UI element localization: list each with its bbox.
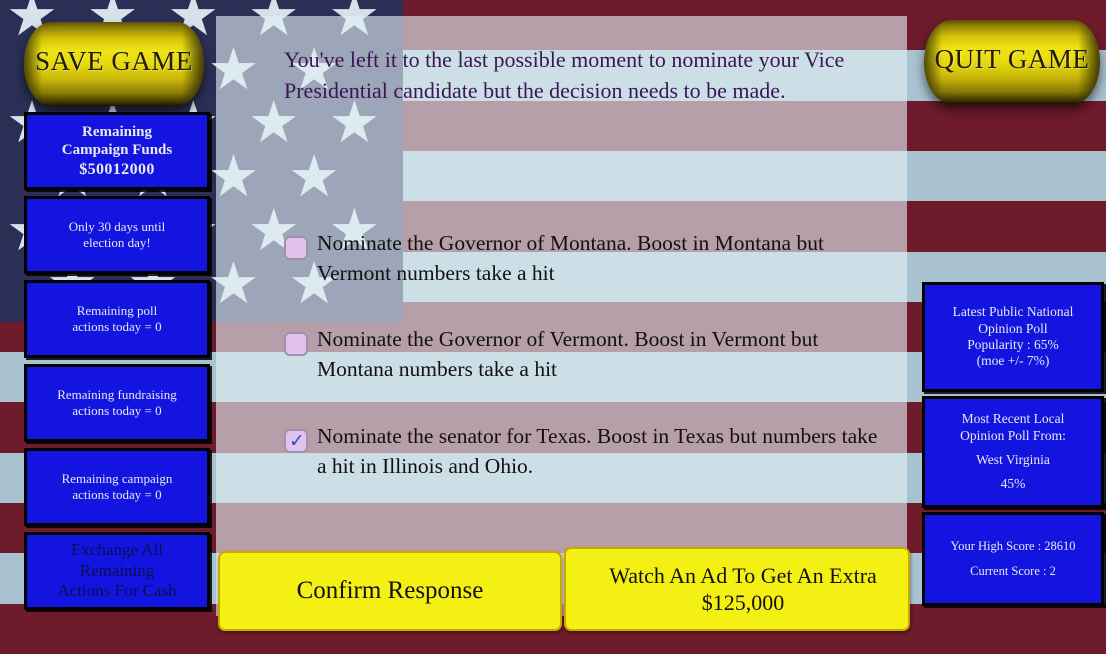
poll-actions-line-1: Remaining poll (27, 303, 207, 319)
campaign-actions-line-1: Remaining campaign (27, 471, 207, 487)
option-label-1: Nominate the Governor of Vermont. Boost … (317, 325, 884, 384)
option-row-0[interactable]: Nominate the Governor of Montana. Boost … (284, 229, 884, 288)
national-poll-margin-of-error: (moe +/- 7%) (925, 353, 1101, 369)
remaining-campaign-actions-panel: Remaining campaign actions today = 0 (24, 448, 210, 526)
watch-ad-line-1: Watch An Ad To Get An Extra (572, 562, 914, 590)
game-screen: ★★★★★★★★★★★★★★★★★★★★★★★★★★★ SAVE GAME QU… (0, 0, 1106, 654)
days-line-2: election day! (27, 235, 207, 251)
score-panel: Your High Score : 28610 Current Score : … (922, 512, 1104, 606)
days-until-election-panel: Only 30 days until election day! (24, 196, 210, 274)
exchange-actions-for-cash-button[interactable]: Exchange All Remaining Actions For Cash (24, 532, 210, 610)
confirm-response-label: Confirm Response (297, 575, 484, 606)
local-poll-state: West Virginia (925, 452, 1101, 468)
funds-amount: $50012000 (27, 160, 207, 180)
confirm-response-button[interactable]: Confirm Response (218, 551, 562, 631)
local-poll-line-2: Opinion Poll From: (925, 428, 1101, 444)
checkbox-icon-0[interactable] (284, 236, 308, 260)
exchange-line-3: Actions For Cash (27, 581, 207, 602)
days-line-1: Only 30 days until (27, 219, 207, 235)
save-game-label: SAVE GAME (24, 46, 204, 77)
remaining-poll-actions-panel: Remaining poll actions today = 0 (24, 280, 210, 358)
watch-ad-label: Watch An Ad To Get An Extra $125,000 (566, 562, 908, 617)
national-poll-popularity: Popularity : 65% (925, 337, 1101, 353)
remaining-fundraising-actions-panel: Remaining fundraising actions today = 0 (24, 364, 210, 442)
campaign-actions-line-2: actions today = 0 (27, 487, 207, 503)
checkbox-icon-2[interactable]: ✓ (284, 429, 308, 453)
poll-actions-line-2: actions today = 0 (27, 319, 207, 335)
exchange-line-2: Remaining (27, 561, 207, 582)
option-row-2[interactable]: ✓ Nominate the senator for Texas. Boost … (284, 422, 884, 481)
option-row-1[interactable]: Nominate the Governor of Vermont. Boost … (284, 325, 884, 384)
current-score-text: Current Score : 2 (925, 564, 1101, 579)
local-opinion-poll-panel: Most Recent Local Opinion Poll From: Wes… (922, 396, 1104, 508)
quit-game-label: QUIT GAME (924, 44, 1100, 75)
option-label-0: Nominate the Governor of Montana. Boost … (317, 229, 884, 288)
checkbox-icon-1[interactable] (284, 332, 308, 356)
star-icon: ★ (208, 254, 260, 312)
national-poll-line-1: Latest Public National (925, 304, 1101, 320)
option-label-2: Nominate the senator for Texas. Boost in… (317, 422, 884, 481)
local-poll-line-1: Most Recent Local (925, 411, 1101, 427)
exchange-line-1: Exchange All (27, 540, 207, 561)
funds-line-2: Campaign Funds (27, 141, 207, 159)
fundraising-actions-line-2: actions today = 0 (27, 403, 207, 419)
national-poll-line-2: Opinion Poll (925, 321, 1101, 337)
fundraising-actions-line-1: Remaining fundraising (27, 387, 207, 403)
quit-game-button[interactable]: QUIT GAME (924, 20, 1100, 104)
watch-ad-line-2: $125,000 (572, 589, 914, 617)
remaining-campaign-funds-panel: Remaining Campaign Funds $50012000 (24, 112, 210, 190)
high-score-text: Your High Score : 28610 (925, 539, 1101, 554)
question-text: You've left it to the last possible mome… (284, 44, 884, 106)
check-mark-icon-2: ✓ (289, 429, 305, 453)
local-poll-value: 45% (925, 476, 1101, 492)
save-game-button[interactable]: SAVE GAME (24, 22, 204, 106)
watch-ad-button[interactable]: Watch An Ad To Get An Extra $125,000 (564, 547, 910, 631)
national-opinion-poll-panel: Latest Public National Opinion Poll Popu… (922, 282, 1104, 392)
funds-line-1: Remaining (27, 123, 207, 141)
